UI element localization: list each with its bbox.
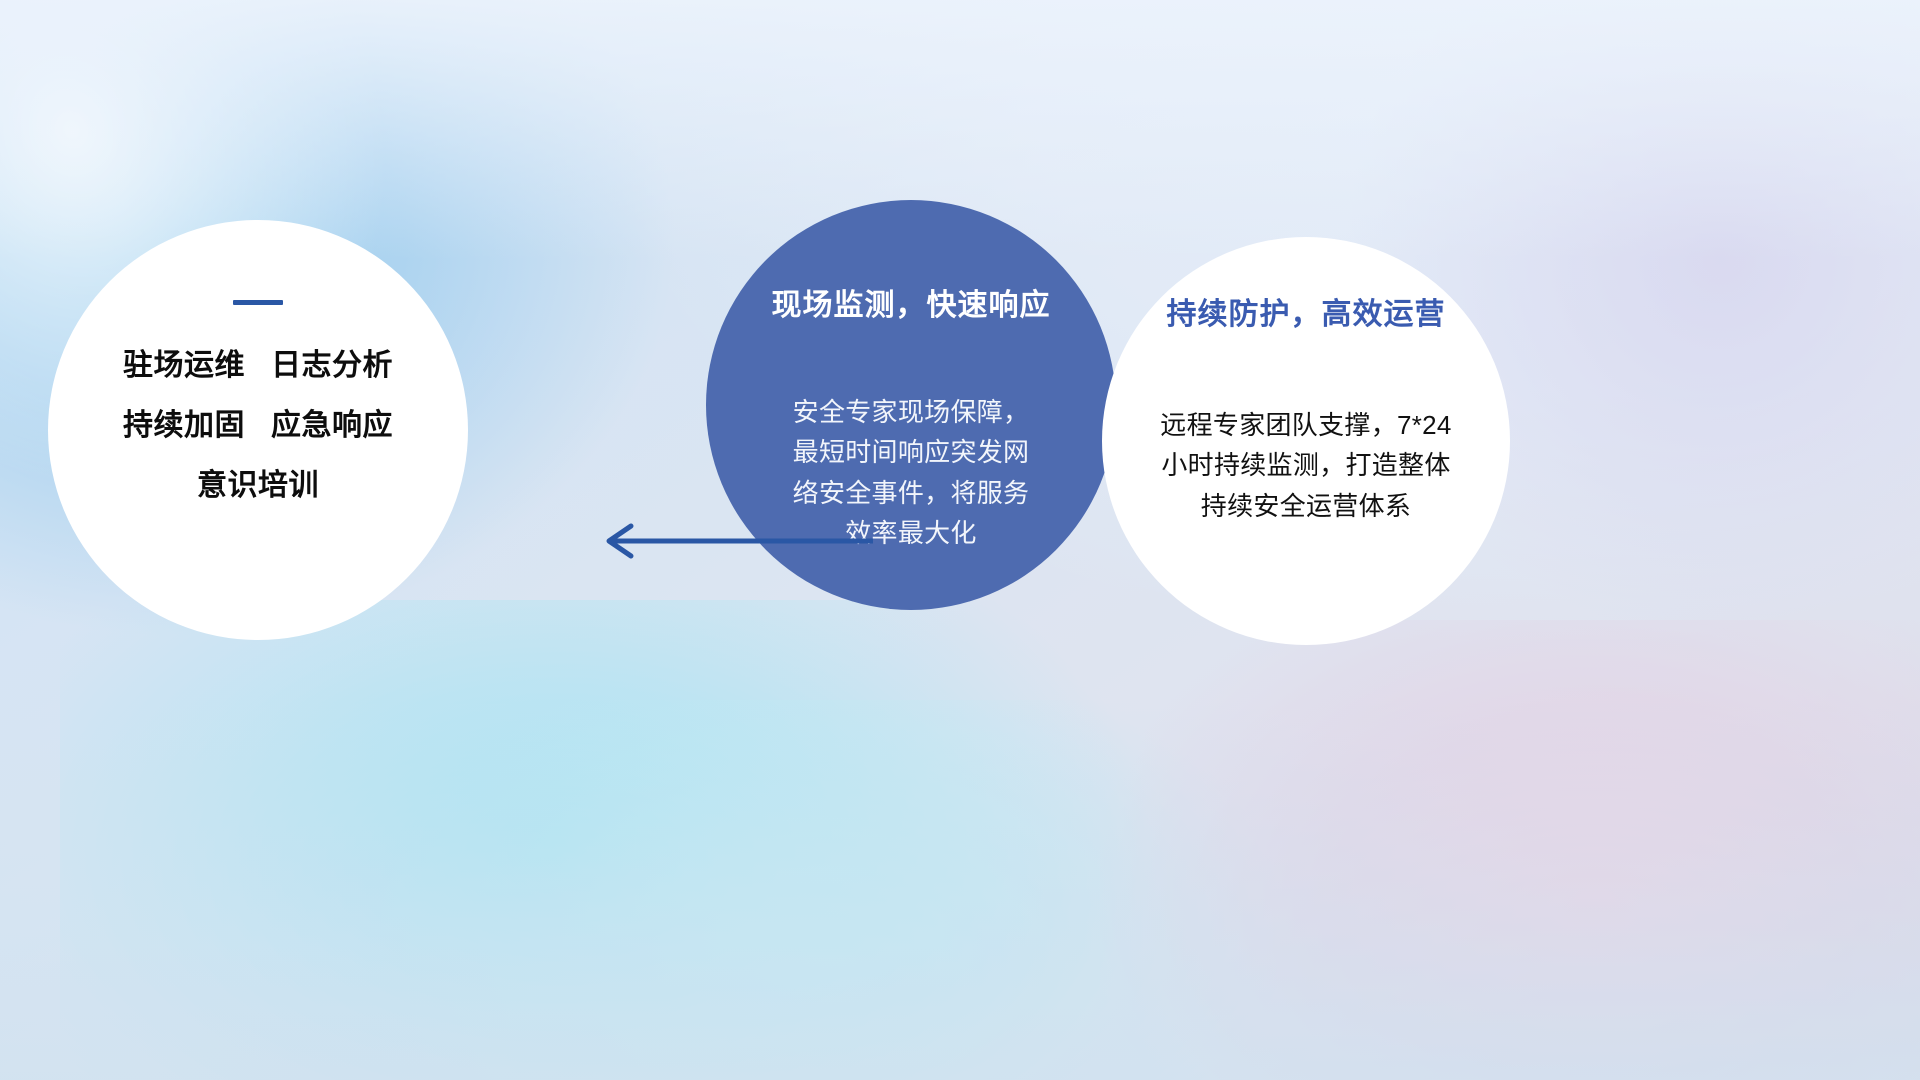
arrow-left-icon (595, 520, 875, 562)
middle-body-line: 最短时间响应突发网 (700, 432, 1122, 472)
left-divider-rule (233, 300, 283, 305)
right-continuous-protection-circle[interactable]: 持续防护，高效运营 远程专家团队支撑，7*24 小时持续监测，打造整体 持续安全… (1102, 237, 1510, 645)
middle-body-line: 络安全事件，将服务 (700, 473, 1122, 513)
left-keyword-4: 应急响应 (271, 409, 393, 442)
right-body-line: 持续安全运营体系 (1116, 486, 1496, 526)
left-capability-circle[interactable]: 驻场运维日志分析 持续加固应急响应 意识培训 (48, 220, 468, 640)
middle-circle-title: 现场监测，快速响应 (700, 280, 1122, 324)
right-circle-content: 持续防护，高效运营 远程专家团队支撑，7*24 小时持续监测，打造整体 持续安全… (1116, 289, 1496, 526)
middle-circle-content: 现场监测，快速响应 安全专家现场保障， 最短时间响应突发网 络安全事件，将服务 … (700, 280, 1122, 553)
left-circle-content: 驻场运维日志分析 持续加固应急响应 意识培训 (48, 300, 468, 501)
left-keyword-2: 日志分析 (271, 349, 393, 382)
left-keyword-row-1: 驻场运维日志分析 (48, 351, 468, 381)
middle-body-line: 安全专家现场保障， (700, 392, 1122, 432)
diagram-stage: 驻场运维日志分析 持续加固应急响应 意识培训 现场监测，快速响应 安全专家现场保… (0, 0, 1920, 1080)
left-keyword-row-3: 意识培训 (48, 471, 468, 501)
left-keyword-row-2: 持续加固应急响应 (48, 411, 468, 441)
left-keyword-3: 持续加固 (123, 409, 245, 442)
right-circle-body: 远程专家团队支撑，7*24 小时持续监测，打造整体 持续安全运营体系 (1116, 405, 1496, 526)
right-circle-title: 持续防护，高效运营 (1116, 289, 1496, 333)
left-keyword-1: 驻场运维 (123, 349, 245, 382)
right-body-line: 远程专家团队支撑，7*24 (1116, 405, 1496, 445)
right-body-line: 小时持续监测，打造整体 (1116, 445, 1496, 485)
